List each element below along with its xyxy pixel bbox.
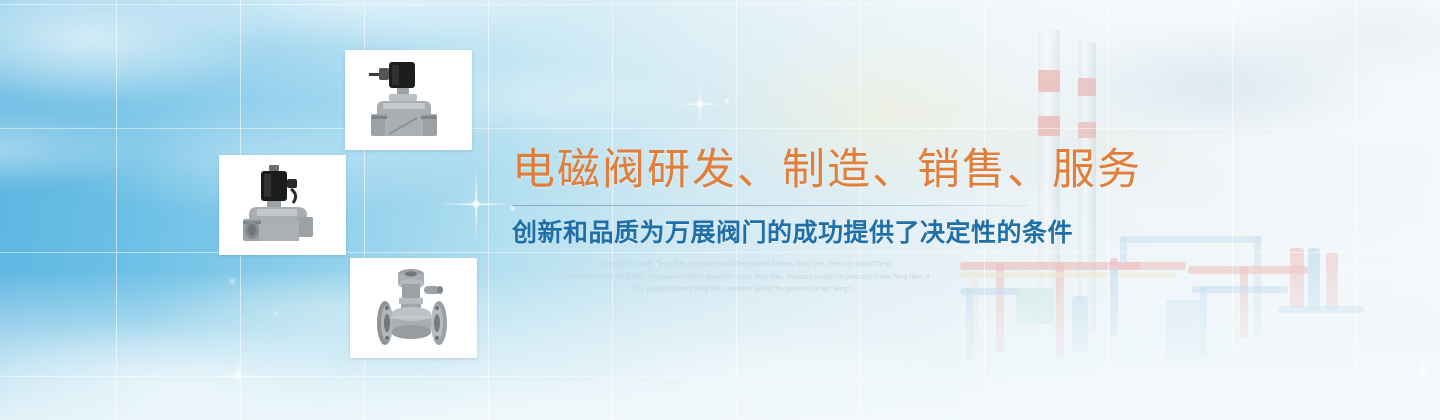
product-tile-2[interactable]	[219, 155, 346, 255]
product-tile-1[interactable]	[345, 50, 472, 150]
bokeh-dot	[272, 310, 279, 317]
threaded-solenoid-valve-angled-icon	[231, 161, 335, 249]
bokeh-dot	[228, 277, 237, 286]
banner-fineprint: The peaceful times Teng flies, treasure …	[528, 259, 958, 296]
banner-headline: 电磁阀研发、制造、销售、服务	[512, 148, 1112, 194]
flanged-solenoid-valve-icon	[361, 264, 467, 352]
fineprint-line-3: The peaceful times Teng flies, treasure …	[562, 284, 922, 296]
bokeh-dot	[724, 98, 730, 104]
headline-divider	[512, 205, 1028, 206]
banner-copy: 电磁阀研发、制造、销售、服务 创新和品质为万展阀门的成功提供了决定性的条件 Th…	[512, 148, 1112, 296]
threaded-solenoid-valve-icon	[355, 56, 463, 144]
fineprint-line-2: The peaceful times Teng flies, treasure …	[528, 272, 958, 284]
hero-banner: 电磁阀研发、制造、销售、服务 创新和品质为万展阀门的成功提供了决定性的条件 Th…	[0, 0, 1440, 420]
fineprint-line-1: The peaceful times Teng flies, treasure …	[528, 259, 958, 271]
product-tile-3[interactable]	[350, 258, 477, 358]
banner-subheadline: 创新和品质为万展阀门的成功提供了决定性的条件	[512, 219, 1112, 248]
